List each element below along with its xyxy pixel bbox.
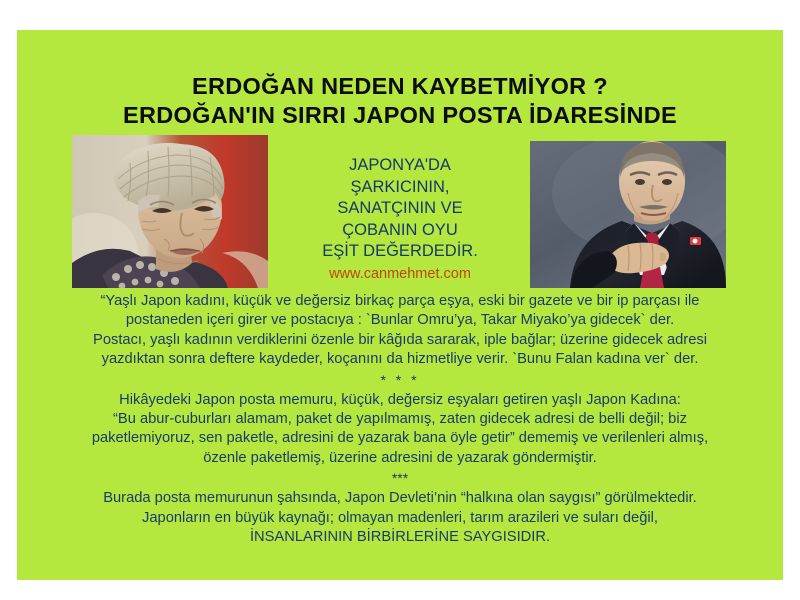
slogan-line-5: EŞİT DEĞERDEDİR. xyxy=(300,241,500,263)
slogan-line-1: JAPONYA'DA xyxy=(300,155,500,177)
paragraph-3: Burada posta memurunun şahsında, Japon D… xyxy=(17,489,783,547)
paragraph-3-line-2: Japonların en büyük kaynağı; olmayan mad… xyxy=(23,509,777,528)
slogan-block: JAPONYA'DA ŞARKICININ, SANATÇININ VE ÇOB… xyxy=(300,155,500,283)
man-in-suit-illustration xyxy=(530,141,726,288)
paragraph-1-line-4: yazdıktan sonra deftere kaydeder, koçanı… xyxy=(23,350,777,369)
elderly-woman-illustration xyxy=(72,135,268,288)
paragraph-2-line-4: özenle paketlemiş, üzerine adresini de y… xyxy=(23,449,777,468)
poster-canvas: ERDOĞAN NEDEN KAYBETMİYOR ? ERDOĞAN'IN S… xyxy=(17,30,783,580)
paragraph-2-line-3: paketlemiyoruz, sen paketle, adresini de… xyxy=(23,429,777,448)
separator-1: * * * xyxy=(17,371,783,389)
paragraph-2-line-1: Hikâyedeki Japon posta memuru, küçük, de… xyxy=(23,391,777,410)
paragraph-1-line-3: Postacı, yaşlı kadının verdiklerini özen… xyxy=(23,331,777,350)
paragraph-2: Hikâyedeki Japon posta memuru, küçük, de… xyxy=(17,391,783,469)
photo-elderly-japanese-woman xyxy=(72,135,268,288)
body-text-block: “Yaşlı Japon kadını, küçük ve değersiz b… xyxy=(17,292,783,547)
paragraph-1: “Yaşlı Japon kadını, küçük ve değersiz b… xyxy=(17,292,783,370)
page-title: ERDOĞAN NEDEN KAYBETMİYOR ? ERDOĞAN'IN S… xyxy=(17,72,783,130)
paragraph-2-line-2: “Bu abur-cuburları alamam, paket de yapı… xyxy=(23,410,777,429)
slogan-line-4: ÇOBANIN OYU xyxy=(300,220,500,242)
website-url[interactable]: www.canmehmet.com xyxy=(300,265,500,283)
paragraph-1-line-2: postaneden içeri girer ve postacıya : `B… xyxy=(23,311,777,330)
title-line-1: ERDOĞAN NEDEN KAYBETMİYOR ? xyxy=(17,72,783,101)
paragraph-3-line-1: Burada posta memurunun şahsında, Japon D… xyxy=(23,489,777,508)
title-line-2: ERDOĞAN'IN SIRRI JAPON POSTA İDARESİNDE xyxy=(17,101,783,130)
slogan-line-3: SANATÇININ VE xyxy=(300,198,500,220)
paragraph-1-line-1: “Yaşlı Japon kadını, küçük ve değersiz b… xyxy=(23,292,777,311)
photo-man-in-suit xyxy=(530,141,726,288)
slogan-line-2: ŞARKICININ, xyxy=(300,177,500,199)
paragraph-3-line-3: İNSANLARININ BİRBİRLERİNE SAYGISIDIR. xyxy=(23,528,777,547)
separator-2: *** xyxy=(17,469,783,487)
